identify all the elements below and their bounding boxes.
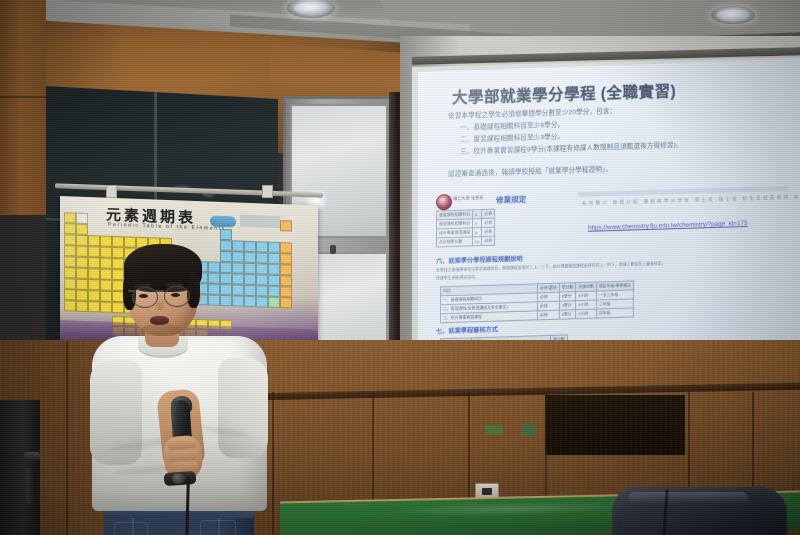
ceiling-downlight-2 [711,6,755,24]
lecture-hall-photo: 大學部就業學分學程 (全職實習) 修習本學程之學生必須修畢總學分數至少20學分，… [0,0,800,535]
chair-highlight [628,492,748,504]
mini-cell: 必修 [482,227,495,236]
tshirt-sleeve-right [218,358,268,458]
slide-note: 認證審查通過後，報請學校授給「就業學分學程證明」。 [448,163,612,178]
wristwatch-face [172,473,185,484]
sidebar-mini-table: 基礎課程相關科目8必修 實習課程相關科目3必修 校外專業實習課程9必修 合計總學… [436,209,495,248]
wood-seam [688,392,690,492]
presentation-slide: 大學部就業學分學程 (全職實習) 修習本學程之學生必須修畢總學分數至少20學分，… [418,59,800,375]
wood-seam [372,392,374,512]
mini-cell: 3 [473,219,482,228]
wall-label-green-2 [522,424,536,436]
slide-title: 大學部就業學分學程 (全職實習) [452,76,772,108]
program-url-link[interactable]: https://www.chemistry.fju.edu.tw/chemist… [588,220,748,232]
slide-section-a-heading: 六、就業學分學程課程規劃說明 [436,254,523,266]
speaker-person [90,240,275,535]
wall-label-green-1 [485,425,503,435]
course-table-a: 科目 必修/選修 學分數 授課時數 開設年級/學期備註 一、基礎課程相關科目 必… [440,280,634,323]
university-name-label: 輔仁大學 化學系 [453,195,483,202]
mini-cell: 8 [473,210,482,219]
jeans-pocket-left [114,522,148,535]
poster-clip-left [106,185,117,198]
eye-right [171,293,180,297]
hair-sideburn-right [187,272,200,308]
university-seal-icon [436,194,452,210]
cell: 四年級 [596,308,633,318]
jeans-pocket-right [200,520,236,535]
cell: 9小時 [576,309,597,319]
nose [156,298,164,310]
slide-section-b-heading: 七、就業學程審核方式 [436,325,498,336]
cell: 9學分 [559,310,576,320]
cabinet-handle[interactable] [24,452,40,461]
wood-seam [545,392,547,500]
cell: 三、校外專業實習課程 [441,311,538,323]
eye-left [139,294,148,298]
wood-seam [752,392,754,488]
left-wood-column [0,0,46,215]
slide-section-a-paragraph2: 修課學生須依規定完成。 [436,274,479,282]
mini-cell: 合計總學分數 [437,237,473,247]
mini-cell: 9 [473,228,482,237]
left-column-seam [0,96,46,98]
wood-seam [66,342,68,535]
slide-section-label: 修業規定 [496,194,526,206]
mini-cell: 20 [473,237,482,246]
slide-bullet-1: 一、基礎課程相關科目至少8學分。 [460,119,564,132]
mini-cell: 必修 [482,209,495,218]
window-latch-upper [330,245,336,254]
cabinet-edge-trim [26,468,35,504]
wall-dark-recess [545,395,685,455]
av-equipment-cabinet [0,400,40,535]
slide-bullet-2: 二、實習課程相關科目至少3學分。 [460,131,564,144]
poster-clip-right [262,185,273,198]
eyeglasses-bridge [156,290,164,292]
cell: 必修 [538,310,560,320]
chin-shadow [140,324,182,336]
mini-cell: 必修 [482,218,495,227]
projection-screen: 大學部就業學分學程 (全職實習) 修習本學程之學生必須修畢總學分數至少20學分，… [418,59,800,375]
mini-cell: 必修 [482,236,495,245]
wood-seam [468,392,470,502]
